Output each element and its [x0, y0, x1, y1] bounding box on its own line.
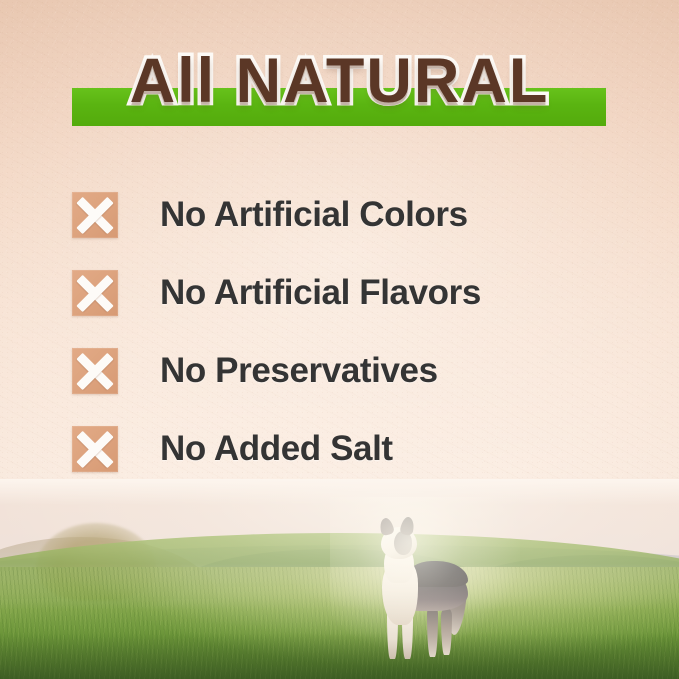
dog-hind-leg-left — [427, 607, 438, 657]
claim-label: No Added Salt — [160, 429, 393, 469]
claim-label: No Artificial Flavors — [160, 273, 481, 313]
product-infographic-image: All NATURAL No Artificial Colors No Arti… — [0, 0, 679, 679]
list-item: No Added Salt — [72, 410, 632, 488]
landscape-photo — [0, 479, 679, 679]
dog-hind-leg-right — [441, 609, 452, 655]
x-mark-icon — [72, 270, 118, 316]
x-mark-icon — [72, 426, 118, 472]
list-item: No Preservatives — [72, 332, 632, 410]
list-item: No Artificial Flavors — [72, 254, 632, 332]
x-mark-icon — [72, 348, 118, 394]
claim-label: No Preservatives — [160, 351, 438, 391]
x-mark-icon — [72, 192, 118, 238]
foreground-shadow — [0, 633, 679, 679]
page-title: All NATURAL — [0, 46, 679, 116]
claim-label: No Artificial Colors — [160, 195, 468, 235]
list-item: No Artificial Colors — [72, 176, 632, 254]
claims-list: No Artificial Colors No Artificial Flavo… — [72, 176, 632, 488]
border-collie-dog — [366, 513, 476, 665]
